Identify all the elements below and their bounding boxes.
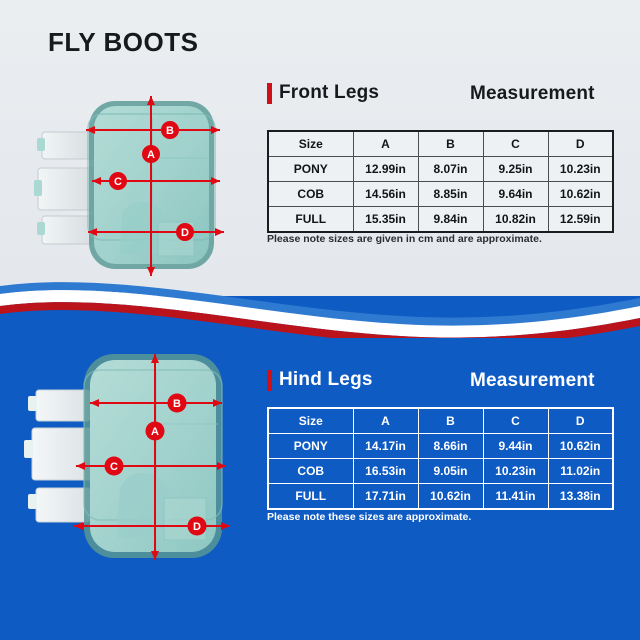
table-row: COB 16.53in 9.05in 10.23in 11.02in <box>268 459 613 484</box>
svg-text:C: C <box>114 176 122 188</box>
header-d: D <box>548 131 613 157</box>
front-footnote: Please note sizes are given in cm and ar… <box>267 233 542 245</box>
hind-boot-figure: A B C D <box>22 342 262 570</box>
cell-d: 11.02in <box>548 459 613 484</box>
fly-boots-size-chart: FLY BOOTS Front Legs Measurement <box>0 0 640 640</box>
svg-text:C: C <box>110 461 118 473</box>
hind-marker-c: C <box>105 457 124 476</box>
svg-text:B: B <box>173 398 181 410</box>
red-accent-bar <box>267 370 272 391</box>
cell-c: 10.82in <box>483 207 548 233</box>
cell-a: 16.53in <box>353 459 418 484</box>
cell-c: 9.64in <box>483 182 548 207</box>
header-size: Size <box>268 131 353 157</box>
front-marker-b: B <box>161 121 179 139</box>
cell-size: COB <box>268 459 353 484</box>
header-c: C <box>483 131 548 157</box>
svg-text:A: A <box>151 426 159 438</box>
cell-b: 8.85in <box>418 182 483 207</box>
cell-size: FULL <box>268 207 353 233</box>
front-straps <box>34 132 96 244</box>
front-legs-heading: Front Legs <box>267 82 379 104</box>
hind-straps <box>24 390 92 522</box>
header-c: C <box>483 408 548 434</box>
hind-marker-b: B <box>168 394 187 413</box>
header-b: B <box>418 408 483 434</box>
cell-b: 8.66in <box>418 434 483 459</box>
cell-c: 10.23in <box>483 459 548 484</box>
cell-size: PONY <box>268 434 353 459</box>
front-marker-d: D <box>176 223 194 241</box>
cell-a: 17.71in <box>353 484 418 510</box>
table-row: FULL 15.35in 9.84in 10.82in 12.59in <box>268 207 613 233</box>
cell-d: 10.23in <box>548 157 613 182</box>
hind-table-body: Size A B C D PONY 14.17in 8.66in 9.44in … <box>268 408 613 509</box>
hind-legs-label: Hind Legs <box>279 369 373 391</box>
cell-b: 8.07in <box>418 157 483 182</box>
cell-size: FULL <box>268 484 353 510</box>
cell-d: 12.59in <box>548 207 613 233</box>
front-size-table: Size A B C D PONY 12.99in 8.07in 9.25in … <box>267 130 614 233</box>
cell-c: 9.25in <box>483 157 548 182</box>
svg-text:B: B <box>166 125 174 137</box>
hind-marker-d: D <box>188 517 207 536</box>
page-title: FLY BOOTS <box>48 27 198 58</box>
red-accent-bar <box>267 83 272 104</box>
table-row: PONY 14.17in 8.66in 9.44in 10.62in <box>268 434 613 459</box>
cell-a: 12.99in <box>353 157 418 182</box>
front-marker-c: C <box>109 172 127 190</box>
svg-text:D: D <box>193 521 201 533</box>
header-a: A <box>353 408 418 434</box>
cell-a: 14.56in <box>353 182 418 207</box>
cell-b: 10.62in <box>418 484 483 510</box>
table-row: FULL 17.71in 10.62in 11.41in 13.38in <box>268 484 613 510</box>
cell-c: 11.41in <box>483 484 548 510</box>
front-legs-label: Front Legs <box>279 82 379 104</box>
front-marker-a: A <box>142 145 160 163</box>
header-b: B <box>418 131 483 157</box>
cell-b: 9.84in <box>418 207 483 233</box>
cell-b: 9.05in <box>418 459 483 484</box>
hind-footnote: Please note these sizes are approximate. <box>267 511 471 523</box>
svg-text:D: D <box>181 227 189 239</box>
hind-size-table: Size A B C D PONY 14.17in 8.66in 9.44in … <box>267 407 614 510</box>
cell-d: 10.62in <box>548 182 613 207</box>
front-measurement-label: Measurement <box>470 83 595 105</box>
front-table-body: Size A B C D PONY 12.99in 8.07in 9.25in … <box>268 131 613 232</box>
header-d: D <box>548 408 613 434</box>
table-row: COB 14.56in 8.85in 9.64in 10.62in <box>268 182 613 207</box>
front-boot-figure: A B C D <box>34 96 260 276</box>
cell-d: 10.62in <box>548 434 613 459</box>
table-row: PONY 12.99in 8.07in 9.25in 10.23in <box>268 157 613 182</box>
hind-legs-heading: Hind Legs <box>267 369 373 391</box>
cell-size: COB <box>268 182 353 207</box>
cell-c: 9.44in <box>483 434 548 459</box>
cell-size: PONY <box>268 157 353 182</box>
header-a: A <box>353 131 418 157</box>
hind-marker-a: A <box>146 422 165 441</box>
svg-text:A: A <box>147 149 155 161</box>
table-header-row: Size A B C D <box>268 408 613 434</box>
cell-a: 15.35in <box>353 207 418 233</box>
table-header-row: Size A B C D <box>268 131 613 157</box>
cell-d: 13.38in <box>548 484 613 510</box>
hind-measurement-label: Measurement <box>470 370 595 392</box>
cell-a: 14.17in <box>353 434 418 459</box>
header-size: Size <box>268 408 353 434</box>
